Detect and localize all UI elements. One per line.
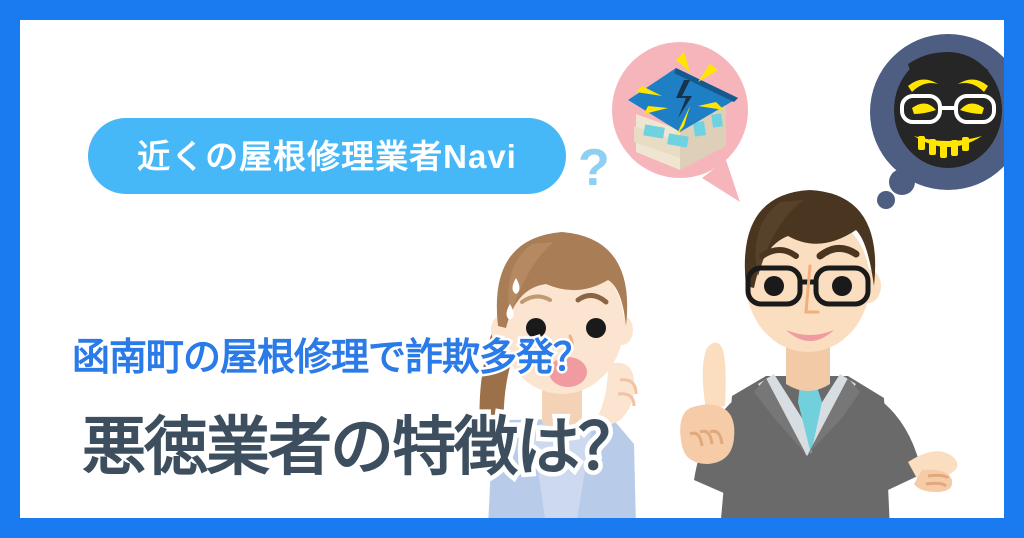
pointing-man-with-glasses-illustration <box>670 170 960 518</box>
site-badge[interactable]: 近くの屋根修理業者Navi <box>88 118 566 194</box>
white-content-panel: 近くの屋根修理業者Navi ? 函南町の屋根修理で詐欺多発？ 悪徳業者の特徴は？ <box>20 20 1004 518</box>
image-frame: 近くの屋根修理業者Navi ? 函南町の屋根修理で詐欺多発？ 悪徳業者の特徴は？ <box>0 0 1024 538</box>
headline-subtitle: 函南町の屋根修理で詐欺多発？ <box>72 326 590 381</box>
pointing-hand <box>680 342 734 464</box>
question-mark-icon: ? <box>578 142 610 194</box>
site-badge-label: 近くの屋根修理業者Navi <box>137 140 517 173</box>
headline-title: 悪徳業者の特徴は？ <box>82 396 640 488</box>
